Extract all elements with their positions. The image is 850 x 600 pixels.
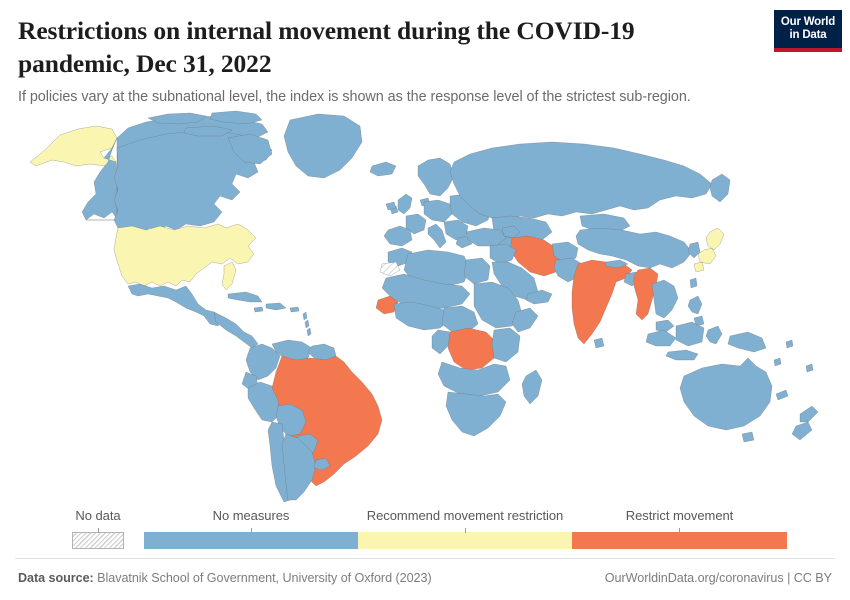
legend-label-restrict-movement: Restrict movement (572, 508, 787, 523)
logo-line-2: in Data (790, 29, 827, 42)
chart-footer: Data source: Blavatnik School of Governm… (0, 559, 850, 600)
data-source-text: Blavatnik School of Government, Universi… (97, 571, 431, 585)
owid-logo[interactable]: Our World in Data (774, 10, 842, 52)
country-puerto-rico[interactable] (290, 307, 299, 312)
legend-swatch-no-data[interactable] (72, 532, 124, 549)
legend-label-no-data: No data (52, 508, 144, 523)
chart-header: Restrictions on internal movement during… (0, 0, 850, 104)
logo-line-1: Our World (781, 16, 835, 29)
legend-bar-no-measures[interactable] (144, 532, 358, 549)
country-sri-lanka[interactable] (594, 338, 604, 348)
legend-tick-1 (98, 528, 99, 533)
country-jamaica[interactable] (254, 307, 263, 312)
data-source-prefix: Data source: (18, 571, 94, 585)
legend-bar-restrict-movement[interactable] (572, 532, 787, 549)
legend-bar-recommend-movement-restriction[interactable] (358, 532, 572, 549)
legend-tick-2 (251, 528, 252, 533)
page-title: Restrictions on internal movement during… (18, 14, 733, 80)
data-source: Data source: Blavatnik School of Governm… (18, 571, 432, 585)
legend-label-no-measures: No measures (144, 508, 358, 523)
world-choropleth-map[interactable] (0, 104, 850, 502)
license-link[interactable]: OurWorldinData.org/coronavirus | CC BY (605, 571, 832, 585)
country-tasmania[interactable] (742, 432, 754, 442)
legend-tick-3 (465, 528, 466, 533)
legend-tick-4 (679, 528, 680, 533)
legend-label-recommend-movement-restriction: Recommend movement restriction (358, 508, 572, 523)
map-legend: No data No measures Recommend movement r… (0, 508, 850, 556)
